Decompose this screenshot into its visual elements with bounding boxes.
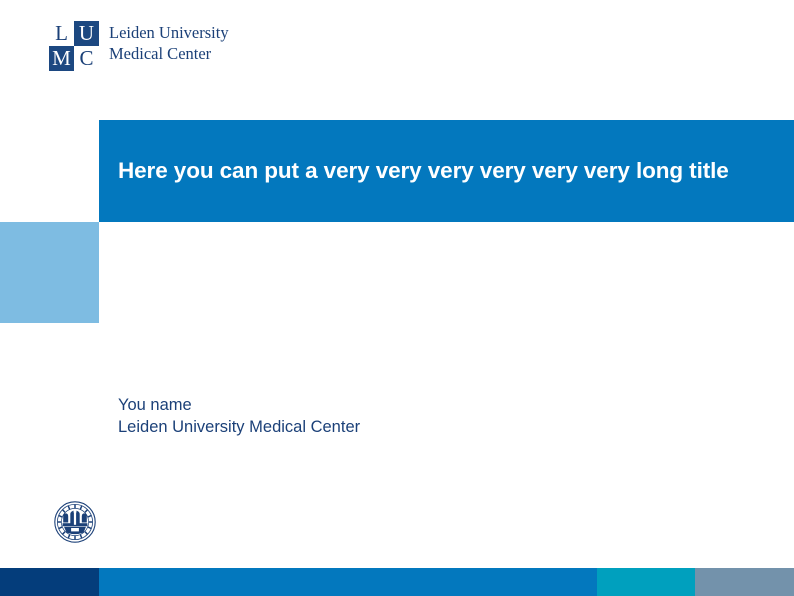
lumc-wordmark: Leiden University Medical Center [109, 22, 229, 64]
leiden-university-seal-icon [54, 501, 96, 543]
logo-letter-u: U [74, 21, 99, 46]
logo-letter-m: M [49, 46, 74, 71]
bar-segment-slate [695, 568, 794, 596]
wordmark-line-2: Medical Center [109, 43, 229, 64]
logo-letter-c: C [74, 46, 99, 71]
title-banner: Here you can put a very very very very v… [99, 120, 794, 222]
presentation-slide: L U M C Leiden University Medical Center… [0, 0, 794, 596]
bar-segment-blue [99, 568, 597, 596]
author-affiliation: Leiden University Medical Center [118, 416, 360, 438]
wordmark-line-1: Leiden University [109, 22, 229, 43]
bar-segment-teal [597, 568, 695, 596]
author-block: You name Leiden University Medical Cente… [118, 394, 360, 438]
accent-square [0, 222, 99, 323]
bottom-color-bar [0, 568, 794, 596]
lumc-logo: L U M C Leiden University Medical Center [49, 21, 259, 73]
author-name: You name [118, 394, 360, 416]
logo-letter-l: L [49, 21, 74, 46]
bar-segment-navy [0, 568, 99, 596]
slide-title: Here you can put a very very very very v… [99, 158, 729, 184]
lumc-logo-mark: L U M C [49, 21, 99, 71]
